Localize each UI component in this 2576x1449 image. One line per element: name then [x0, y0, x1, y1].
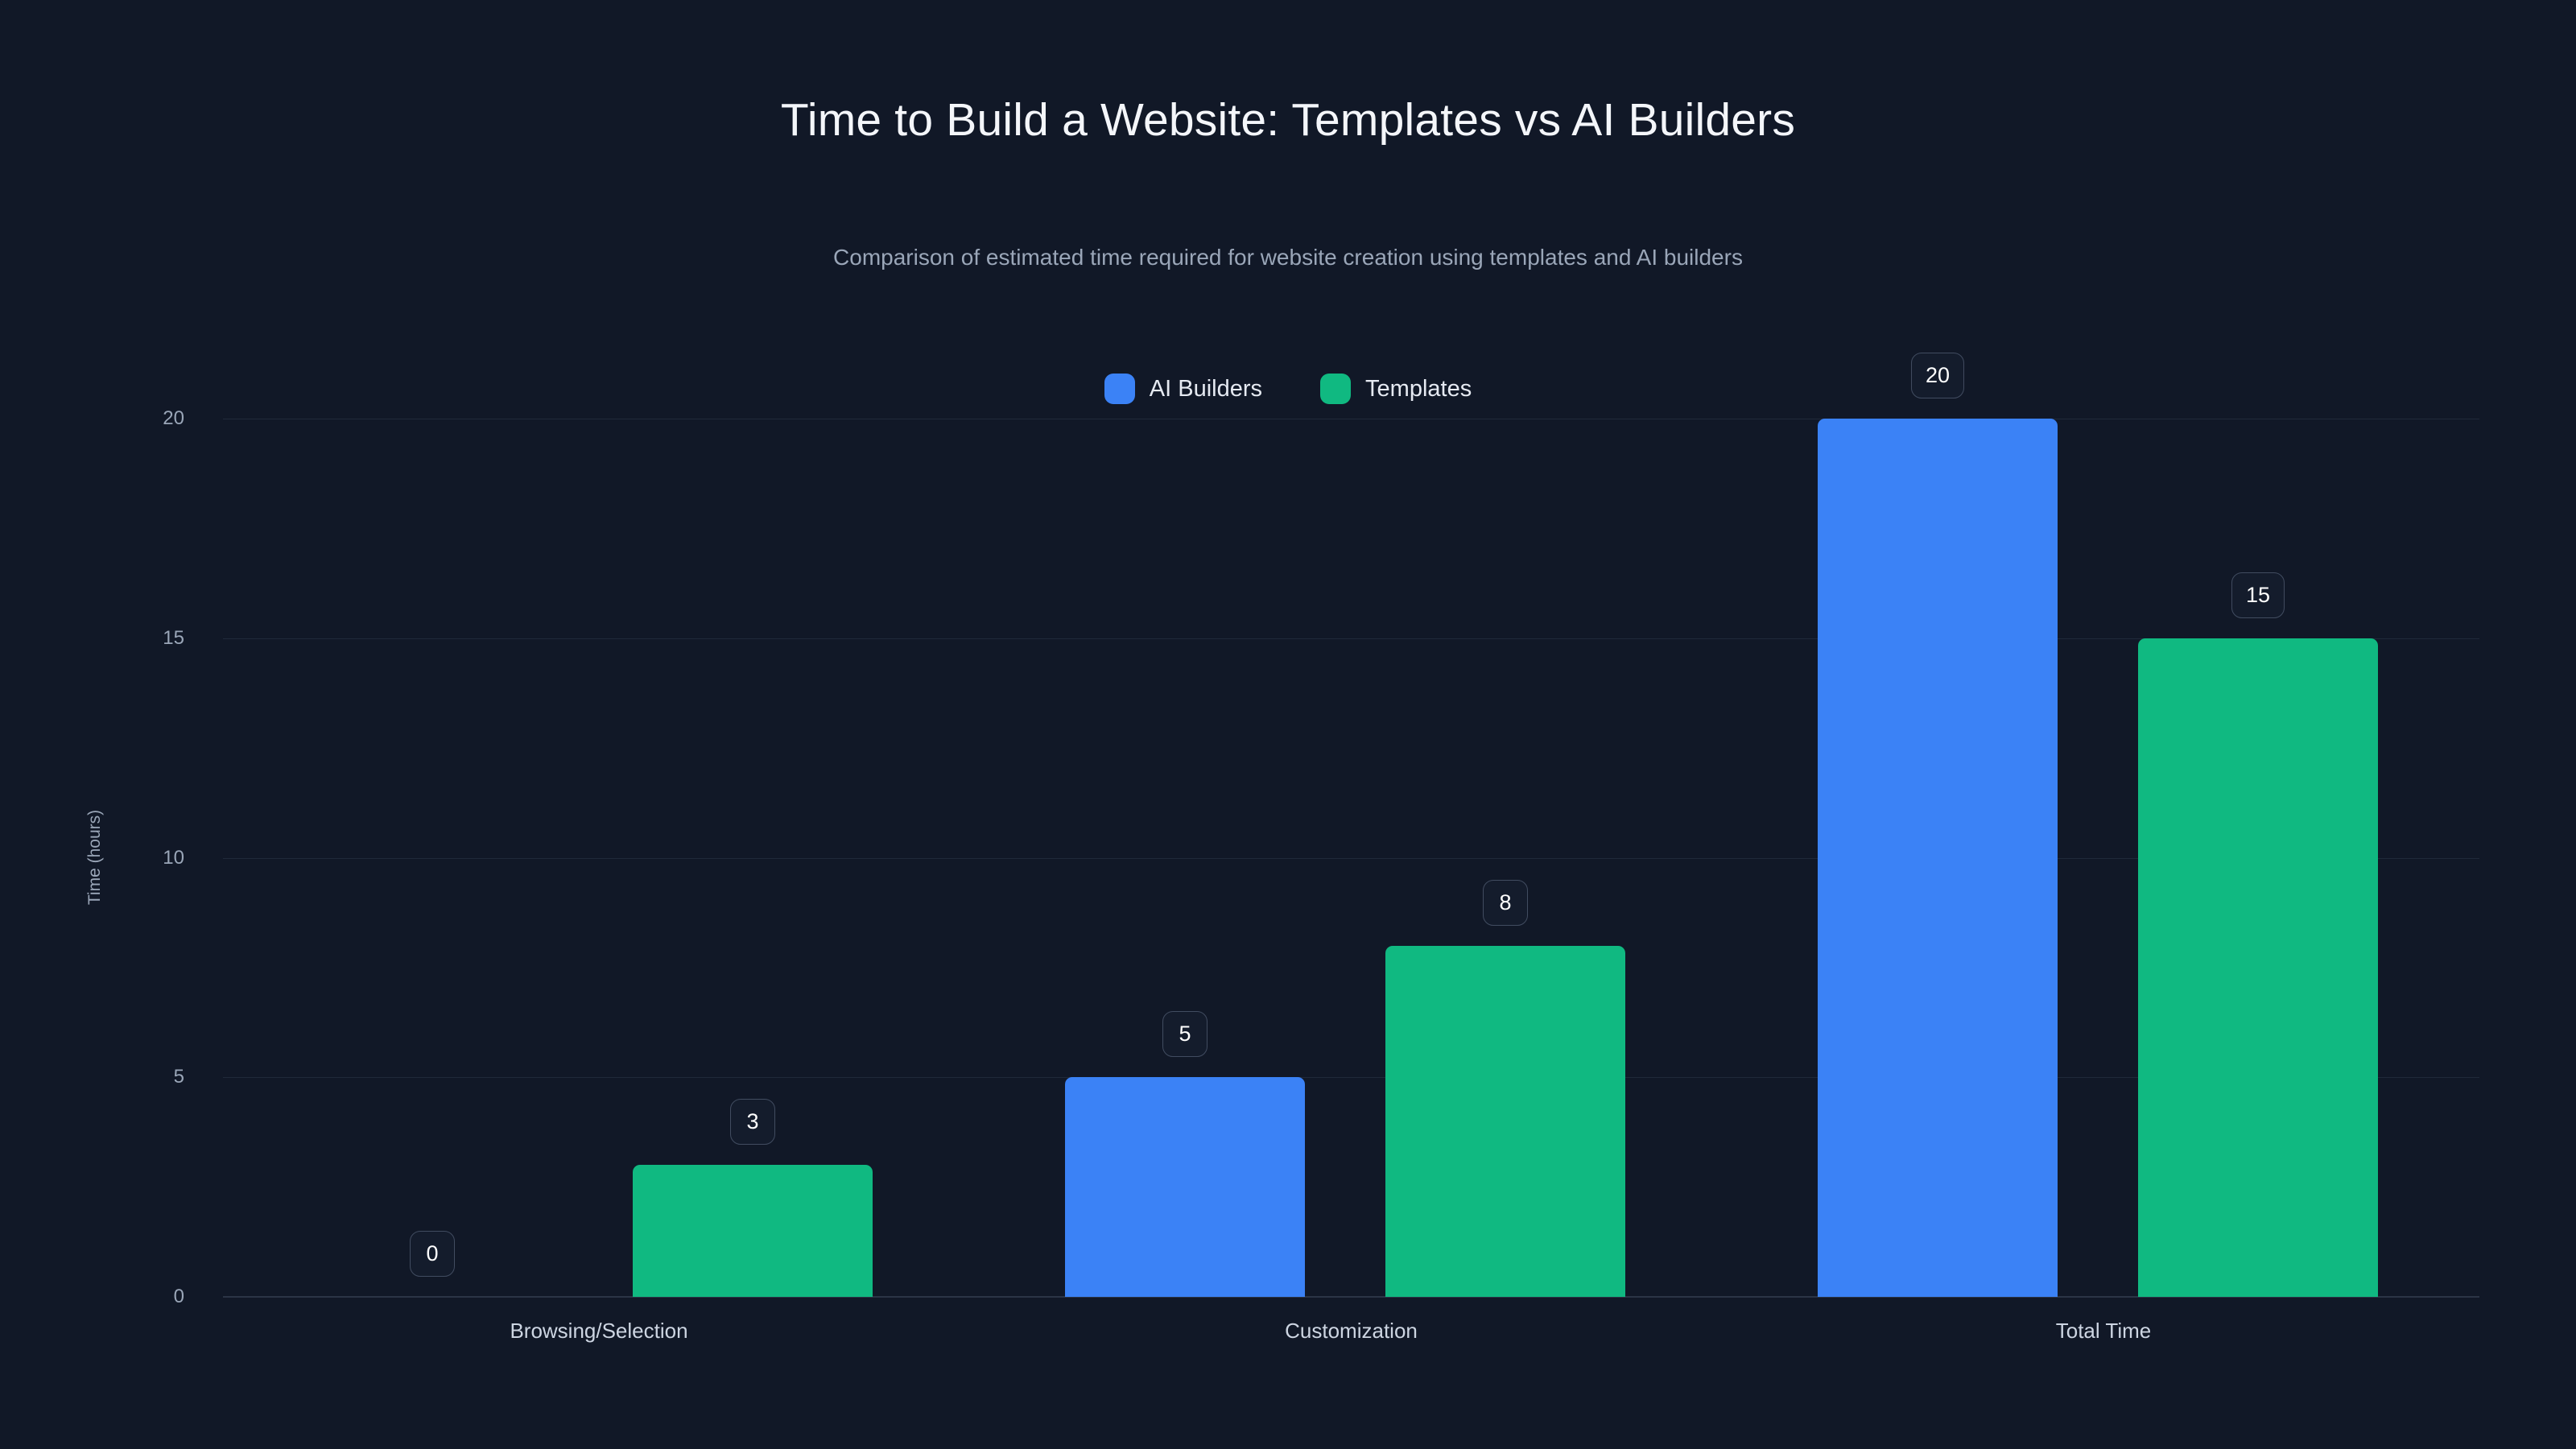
value-label-ai-builders-browsing-selection: 0	[410, 1231, 455, 1277]
value-label-templates-total-time: 15	[2231, 572, 2285, 618]
x-axis-tick-labels: Browsing/Selection Customization Total T…	[223, 1320, 2479, 1360]
x-tick-total-time: Total Time	[2056, 1320, 2152, 1341]
value-label-templates-customization: 8	[1483, 880, 1528, 926]
y-axis-tick-labels: 20 15 10 5 0	[0, 419, 223, 1297]
y-tick-20: 20	[163, 409, 184, 428]
bar-templates-total-time[interactable]	[2138, 638, 2378, 1297]
chart-legend: AI Builders Templates	[0, 371, 2576, 407]
value-label-ai-builders-customization: 5	[1162, 1011, 1207, 1057]
legend-swatch-templates	[1320, 374, 1351, 404]
y-tick-5: 5	[174, 1067, 184, 1087]
bar-templates-customization[interactable]	[1385, 946, 1625, 1297]
chart-subtitle: Comparison of estimated time required fo…	[0, 246, 2576, 270]
value-label-ai-builders-total-time: 20	[1911, 353, 1964, 398]
legend-swatch-ai-builders	[1104, 374, 1135, 404]
bar-ai-builders-customization[interactable]	[1065, 1077, 1305, 1297]
y-tick-10: 10	[163, 848, 184, 868]
legend-item-templates[interactable]: Templates	[1320, 371, 1472, 407]
y-tick-15: 15	[163, 629, 184, 648]
legend-label-ai-builders: AI Builders	[1150, 378, 1262, 401]
x-tick-customization: Customization	[1285, 1320, 1418, 1341]
legend-label-templates: Templates	[1365, 378, 1472, 401]
value-label-templates-browsing-selection: 3	[730, 1099, 775, 1145]
x-tick-browsing-selection: Browsing/Selection	[510, 1320, 687, 1341]
bar-ai-builders-total-time[interactable]	[1818, 419, 2058, 1297]
chart-title: Time to Build a Website: Templates vs AI…	[0, 95, 2576, 146]
legend-item-ai-builders[interactable]: AI Builders	[1104, 371, 1262, 407]
plot-area: 0 3 5 8 20 15	[223, 419, 2479, 1297]
bar-chart: Time to Build a Website: Templates vs AI…	[0, 0, 2576, 1449]
y-axis-title: Time (hours)	[85, 810, 105, 905]
bar-templates-browsing-selection[interactable]	[633, 1165, 873, 1297]
gridline-20	[223, 419, 2479, 419]
y-tick-0: 0	[174, 1287, 184, 1307]
